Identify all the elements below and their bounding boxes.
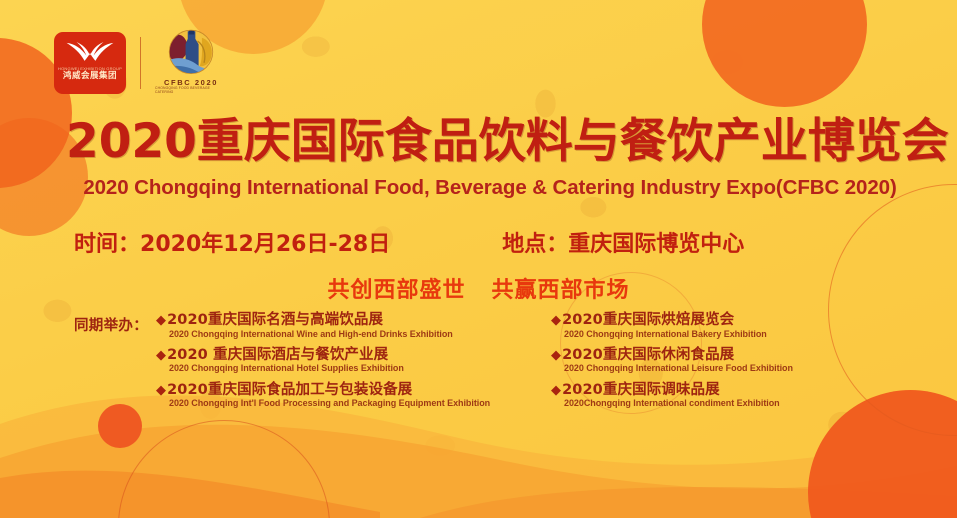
hongwei-exhibition-group-logo: HONGWEI EXHIBITION GROUP 鸿威会展集团 [54,32,126,94]
concurrent-exhibitions: 同期举办： ◆2020重庆国际名酒与高端饮品展 2020 Chongqing I… [74,312,904,417]
list-item: ◆2020重庆国际休闲食品展 2020 Chongqing Internatio… [551,347,881,374]
exhibition-name-cn: ◆2020重庆国际休闲食品展 [551,347,881,364]
deco-circle-top-right [702,0,867,107]
exhibition-name-en: 2020 Chongqing Int'l Food Processing and… [169,398,486,408]
event-venue-value: 重庆国际博览中心 [568,232,744,257]
exhibition-title-cn: 2020重庆国际名酒与高端饮品展 [167,312,383,328]
deco-ring-bottom-left [118,420,330,518]
list-item: ◆2020重庆国际调味品展 2020Chongqing Internationa… [551,382,881,409]
diamond-bullet-icon: ◆ [551,348,561,363]
event-date-label: 时间： [74,232,140,257]
concurrent-right-column: ◆2020重庆国际烘焙展览会 2020 Chongqing Internatio… [551,312,881,417]
eagle-wings-w-mark [63,36,117,66]
slogan-part-1: 共创西部盛世 [327,278,465,303]
logo-divider [140,37,141,89]
list-item: ◆2020重庆国际食品加工与包装设备展 2020 Chongqing Int'l… [156,382,486,409]
exhibition-name-cn: ◆2020重庆国际烘焙展览会 [551,312,881,329]
page-title: 2020重庆国际食品饮料与餐饮产业博览会 [66,118,912,167]
cfbc-english-line: CHONGQING FOOD BEVERAGE CATERING [155,87,227,94]
exhibition-name-en: 2020 Chongqing International Wine and Hi… [169,329,486,339]
diamond-bullet-icon: ◆ [156,383,166,398]
list-item: ◆2020重庆国际烘焙展览会 2020 Chongqing Internatio… [551,312,881,339]
event-venue-label: 地点： [502,232,568,257]
diamond-bullet-icon: ◆ [156,313,166,328]
cfbc-2020-logo: CFBC 2020 CHONGQING FOOD BEVERAGE CATERI… [155,28,227,98]
diamond-bullet-icon: ◆ [551,313,561,328]
slogan-part-2: 共赢西部市场 [492,278,630,303]
exhibition-title-cn: 2020重庆国际休闲食品展 [562,347,734,363]
event-meta: 时间：2020年12月26日-28日 地点：重庆国际博览中心 [74,226,894,258]
exhibition-title-cn: 2020重庆国际食品加工与包装设备展 [167,382,412,398]
list-item: ◆2020 重庆国际酒店与餐饮产业展 2020 Chongqing Intern… [156,347,486,374]
diamond-bullet-icon: ◆ [156,348,166,363]
wine-bottle-wheat-circle-emblem [163,28,219,78]
exhibition-title-cn: 2020重庆国际烘焙展览会 [562,312,734,328]
exhibition-title-cn: 2020 重庆国际酒店与餐饮产业展 [167,347,388,363]
concurrent-left-column: ◆2020重庆国际名酒与高端饮品展 2020 Chongqing Interna… [156,312,486,417]
exhibition-name-cn: ◆2020重庆国际名酒与高端饮品展 [156,312,486,329]
page-subtitle: 2020 Chongqing International Food, Bever… [60,176,920,200]
exhibition-name-cn: ◆2020重庆国际食品加工与包装设备展 [156,382,486,399]
expo-poster: HONGWEI EXHIBITION GROUP 鸿威会展集团 [0,0,957,518]
exhibition-name-en: 2020Chongqing International condiment Ex… [564,398,881,408]
list-item: ◆2020重庆国际名酒与高端饮品展 2020 Chongqing Interna… [156,312,486,339]
exhibition-name-cn: ◆2020重庆国际调味品展 [551,382,881,399]
logo-row: HONGWEI EXHIBITION GROUP 鸿威会展集团 [54,28,227,98]
concurrent-columns: ◆2020重庆国际名酒与高端饮品展 2020 Chongqing Interna… [156,312,904,417]
exhibition-name-en: 2020 Chongqing International Bakery Exhi… [564,329,881,339]
diamond-bullet-icon: ◆ [551,383,561,398]
exhibition-title-cn: 2020重庆国际调味品展 [562,382,720,398]
concurrent-label: 同期举办： [74,312,148,335]
event-venue: 地点：重庆国际博览中心 [502,226,744,258]
exhibition-name-cn: ◆2020 重庆国际酒店与餐饮产业展 [156,347,486,364]
exhibition-name-en: 2020 Chongqing International Leisure Foo… [564,363,881,373]
event-date-value: 2020年12月26日-28日 [140,232,390,257]
exhibition-name-en: 2020 Chongqing International Hotel Suppl… [169,363,486,373]
logo-chinese-name: 鸿威会展集团 [63,71,117,80]
event-date: 时间：2020年12月26日-28日 [74,226,390,258]
event-slogan: 共创西部盛世共赢西部市场 [0,272,957,304]
